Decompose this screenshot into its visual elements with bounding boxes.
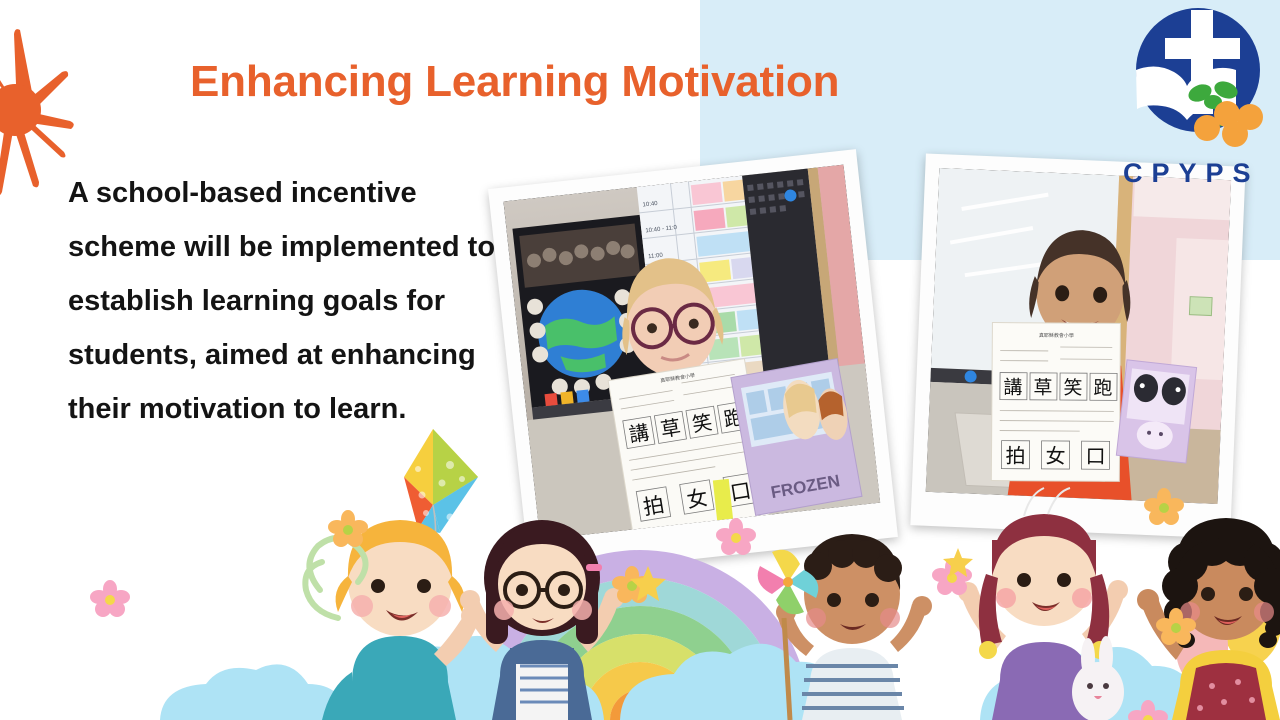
body-paragraph: A school-based incentive scheme will be …	[68, 166, 498, 436]
svg-text:真耶穌教會小學: 真耶穌教會小學	[1039, 332, 1074, 339]
svg-text:講: 講	[1003, 377, 1022, 399]
kite-icon	[378, 425, 488, 570]
svg-text:草: 草	[659, 415, 683, 442]
svg-text:女: 女	[1045, 444, 1065, 468]
svg-text:笑: 笑	[690, 410, 714, 437]
svg-text:跑: 跑	[1093, 377, 1112, 399]
photo-2-image: 真耶穌教會小學 講草 笑跑	[926, 168, 1231, 504]
svg-text:口: 口	[728, 478, 753, 505]
photo-1-image: 10:4010:40 - 11:0 11:0011:2 11:412:0	[503, 165, 880, 540]
svg-text:拍: 拍	[1005, 444, 1025, 468]
svg-text:草: 草	[1033, 377, 1052, 399]
svg-text:講: 講	[627, 420, 651, 447]
photo-student-worksheet-1[interactable]: 10:4010:40 - 11:0 11:0011:2 11:412:0	[488, 149, 898, 577]
school-crest-icon	[1134, 8, 1272, 158]
school-logo: CPYPS	[1118, 8, 1280, 208]
svg-text:口: 口	[1085, 444, 1105, 468]
slide-canvas: Enhancing Learning Motivation A school-b…	[0, 0, 1280, 720]
logo-abbreviation: CPYPS	[1118, 158, 1280, 189]
page-title: Enhancing Learning Motivation	[190, 57, 839, 107]
photo-student-worksheet-2[interactable]: 真耶穌教會小學 講草 笑跑	[910, 153, 1245, 538]
svg-text:拍: 拍	[641, 492, 666, 519]
svg-text:女: 女	[685, 485, 710, 512]
svg-text:笑: 笑	[1063, 377, 1082, 399]
